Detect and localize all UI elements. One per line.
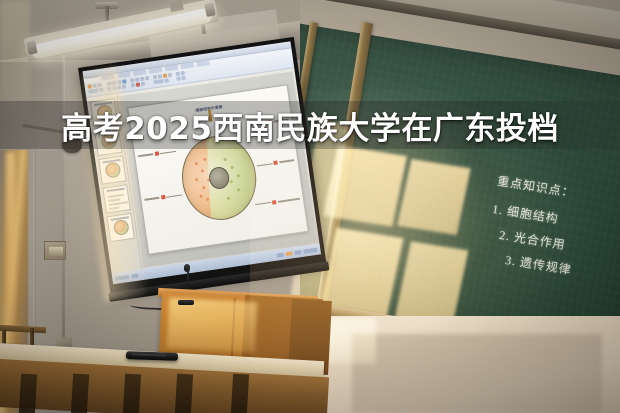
slide-thumbnail[interactable] <box>98 155 126 184</box>
slide-callout-left-2 <box>144 193 182 202</box>
wall-conduit <box>33 150 36 355</box>
slide-callout-right-3 <box>255 196 300 206</box>
podium-sunlight <box>167 298 257 353</box>
overlay-title: 高考2025西南民族大学在广东投档 <box>0 101 620 149</box>
lower-wall-shadow <box>352 334 602 413</box>
ribbon-group-paragraph <box>130 76 150 88</box>
ribbon-group-editing <box>176 71 186 81</box>
slide-callout-right-2 <box>256 159 294 168</box>
classroom-photo-scene: 重点知识点： 1. 细胞结构 2. 光合作用 3. 遗传规律 <box>0 0 620 413</box>
wall-socket-box <box>44 241 66 260</box>
ribbon-tab-animations <box>149 67 163 74</box>
slide-thumbnail[interactable] <box>102 184 130 213</box>
projection-screen-surface: 细胞结构示意图 <box>83 41 322 284</box>
wall-corner-edge <box>62 40 65 340</box>
ribbon-tab-slideshow <box>165 65 179 72</box>
ribbon-tab-transitions <box>133 69 147 76</box>
ribbon-tab-design <box>117 72 131 79</box>
ribbon-tab-insert <box>101 74 115 81</box>
ribbon-tab-home <box>86 76 100 83</box>
slide-callout-left-1 <box>138 149 176 158</box>
ribbon-tab-review <box>181 62 195 69</box>
desk-compartment <box>71 374 89 413</box>
ribbon-group-drawing <box>153 73 173 85</box>
slide-thumbnail[interactable] <box>106 213 134 242</box>
desk-compartment <box>231 374 249 413</box>
desk-compartment <box>123 374 141 413</box>
ribbon-group-clipboard <box>87 83 103 94</box>
ribbon-tab-view <box>196 60 210 67</box>
desk-compartment <box>175 374 193 413</box>
projection-screen: 细胞结构示意图 <box>78 37 326 294</box>
desk-compartment <box>19 374 37 413</box>
room-background: 重点知识点： 1. 细胞结构 2. 光合作用 3. 遗传规律 <box>0 0 620 413</box>
microphone-base <box>178 300 194 305</box>
ribbon-group-font <box>106 79 127 91</box>
